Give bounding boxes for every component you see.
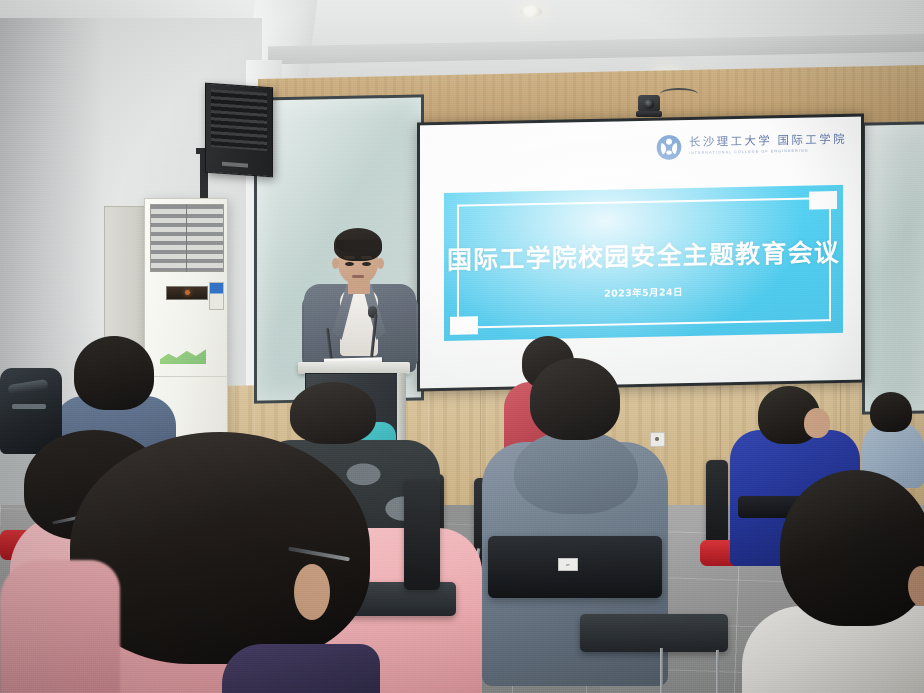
band-corner-top-right: [809, 191, 837, 210]
camera-cable: [660, 88, 698, 100]
glass-whiteboard-right: [862, 121, 924, 414]
chair-tag: ZT: [558, 558, 578, 571]
backpack-buckle: [12, 404, 46, 409]
ac-energy-label: [209, 282, 224, 310]
ac-vent-grille: [150, 204, 224, 272]
chair-back: [706, 460, 728, 544]
university-emblem-icon: [656, 134, 682, 161]
ptz-camera-icon: [636, 95, 662, 119]
attendee-collar: [222, 644, 380, 693]
ac-vent-divider: [186, 204, 187, 272]
chair-leg: [716, 650, 719, 693]
university-logo: 长沙理工大学 国际工学院 INTERNATIONAL COLLEGE OF EN…: [656, 131, 847, 161]
wall-speaker: [205, 83, 273, 178]
ceiling-downlight-icon: [520, 6, 542, 17]
speaker-badge: [222, 162, 248, 168]
hoodie-hood: [514, 430, 638, 514]
attendee-white-shirt: [742, 470, 924, 693]
slide-title: 国际工学院校园安全主题教育会议: [444, 233, 843, 277]
logo-text-cn: 长沙理工大学 国际工学院: [689, 135, 847, 150]
lecture-hall-photo: 长沙理工大学 国际工学院 INTERNATIONAL COLLEGE OF EN…: [0, 0, 924, 693]
ac-power-indicator: [185, 290, 190, 295]
attendee-foreground-left: [0, 560, 120, 693]
chair-tablet-arm: [580, 614, 728, 652]
ac-display-panel: [166, 286, 208, 300]
logo-text-en: INTERNATIONAL COLLEGE OF ENGINEERING: [689, 149, 847, 156]
attendee-ear: [294, 564, 330, 620]
camera-lens-icon: [644, 99, 654, 109]
speaker-grille: [211, 89, 267, 151]
band-rule-top: [457, 197, 831, 207]
band-corner-bottom-left: [450, 316, 478, 335]
band-rule-bottom: [457, 319, 831, 329]
chair-leg: [660, 648, 663, 693]
glass-sheen: [865, 124, 924, 411]
chair-back: [404, 480, 440, 590]
slide-date: 2023年5月24日: [444, 281, 843, 303]
slide-title-band: 国际工学院校园安全主题教育会议 2023年5月24日: [444, 185, 843, 341]
